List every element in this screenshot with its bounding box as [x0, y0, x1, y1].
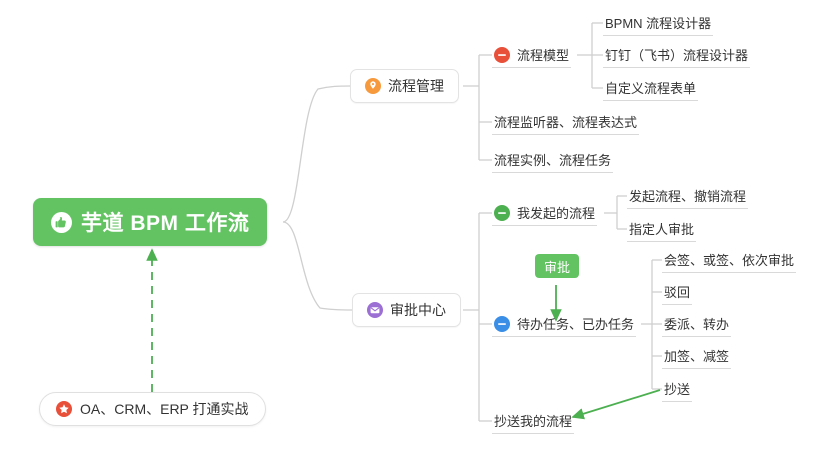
leaf-label: 流程模型 [517, 45, 569, 64]
thumbs-up-icon [51, 212, 72, 233]
leaf-label: 抄送我的流程 [494, 411, 572, 430]
leaf-label: 钉钉（飞书）流程设计器 [605, 45, 748, 64]
leaf-node-process-model[interactable]: 流程模型 [492, 42, 571, 68]
minus-circle-icon [494, 47, 510, 63]
mindmap-canvas: 芋道 BPM 工作流 流程管理 流程模型 BPMN 流程设计器 钉钉（飞书）流程… [0, 0, 814, 453]
leaf-node-instance-task[interactable]: 流程实例、流程任务 [492, 147, 613, 173]
leaf-label: 驳回 [664, 282, 690, 301]
leaf-node-listener-expression[interactable]: 流程监听器、流程表达式 [492, 109, 639, 135]
leaf-label: 自定义流程表单 [605, 78, 696, 97]
leaf-label: 抄送 [664, 379, 690, 398]
minus-circle-green-icon [494, 205, 510, 221]
leaf-label: 委派、转办 [664, 314, 729, 333]
leaf-label: 我发起的流程 [517, 203, 595, 222]
root-node[interactable]: 芋道 BPM 工作流 [33, 198, 267, 246]
leaf-node-start-cancel-process[interactable]: 发起流程、撤销流程 [627, 183, 748, 209]
location-pin-icon [365, 78, 381, 94]
leaf-node-reject[interactable]: 驳回 [662, 279, 692, 305]
leaf-node-assign-approver[interactable]: 指定人审批 [627, 216, 696, 242]
leaf-label: 待办任务、已办任务 [517, 314, 634, 333]
leaf-label: BPMN 流程设计器 [605, 13, 711, 32]
leaf-node-delegate-transfer[interactable]: 委派、转办 [662, 311, 731, 337]
leaf-node-todo-done-tasks[interactable]: 待办任务、已办任务 [492, 311, 636, 337]
envelope-icon [367, 302, 383, 318]
leaf-node-cc-to-me[interactable]: 抄送我的流程 [492, 408, 574, 434]
leaf-node-add-remove-sign[interactable]: 加签、减签 [662, 343, 731, 369]
note-label: OA、CRM、ERP 打通实战 [80, 399, 249, 419]
leaf-node-bpmn-designer[interactable]: BPMN 流程设计器 [603, 10, 713, 36]
branch-node-approval-center[interactable]: 审批中心 [352, 293, 461, 327]
chip-label: 审批 [544, 257, 570, 276]
chip-approval[interactable]: 审批 [535, 254, 579, 278]
branch-label: 审批中心 [390, 300, 446, 320]
leaf-label: 会签、或签、依次审批 [664, 250, 794, 269]
leaf-label: 发起流程、撤销流程 [629, 186, 746, 205]
leaf-label: 加签、减签 [664, 346, 729, 365]
leaf-node-countersign[interactable]: 会签、或签、依次审批 [662, 247, 796, 273]
branch-label: 流程管理 [388, 76, 444, 96]
leaf-node-cc[interactable]: 抄送 [662, 376, 692, 402]
branch-node-process-management[interactable]: 流程管理 [350, 69, 459, 103]
note-integration-practice[interactable]: OA、CRM、ERP 打通实战 [39, 392, 266, 426]
leaf-node-my-started-process[interactable]: 我发起的流程 [492, 200, 597, 226]
root-label: 芋道 BPM 工作流 [81, 207, 249, 237]
minus-circle-blue-icon [494, 316, 510, 332]
leaf-label: 指定人审批 [629, 219, 694, 238]
leaf-label: 流程监听器、流程表达式 [494, 112, 637, 131]
leaf-node-custom-form[interactable]: 自定义流程表单 [603, 75, 698, 101]
leaf-label: 流程实例、流程任务 [494, 150, 611, 169]
star-circle-icon [56, 401, 72, 417]
leaf-node-dingtalk-designer[interactable]: 钉钉（飞书）流程设计器 [603, 42, 750, 68]
